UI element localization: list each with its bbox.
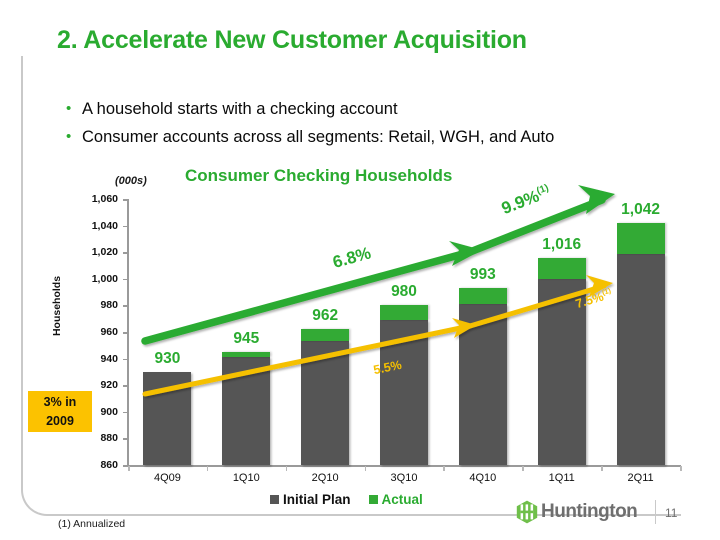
brand-logo: Huntington <box>516 500 637 524</box>
bullet-item-text: A household starts with a checking accou… <box>82 100 398 118</box>
page-number-separator <box>655 500 656 524</box>
y-axis-tick-label: 960 <box>72 326 118 338</box>
bar-segment-actual <box>301 329 349 341</box>
footnote-text: (1) Annualized <box>58 518 125 530</box>
y-axis-tick-mark <box>123 385 128 387</box>
bar-segment-actual <box>538 258 586 279</box>
y-axis-title: Households <box>51 246 63 366</box>
x-axis-tick-label: 3Q10 <box>364 472 444 484</box>
bar-value-label: 945 <box>201 330 291 348</box>
y-axis-tick-mark <box>123 279 128 281</box>
page-number: 11 <box>665 506 677 520</box>
annotation-actual-growth-early: 6.8% <box>331 243 374 273</box>
bar-segment-actual <box>222 352 270 357</box>
legend-label-initial-plan: Initial Plan <box>283 492 351 507</box>
bar-value-label: 1,042 <box>596 201 686 219</box>
y-axis-tick-label: 1,020 <box>72 246 118 258</box>
x-axis-tick-mark <box>443 466 445 471</box>
legend-label-actual: Actual <box>382 492 423 507</box>
y-axis-tick-mark <box>123 226 128 228</box>
bar-segment-actual <box>459 288 507 304</box>
x-axis-tick-label: 4Q10 <box>443 472 523 484</box>
y-axis-tick-label: 920 <box>72 379 118 391</box>
x-axis-tick-label: 1Q11 <box>522 472 602 484</box>
y-axis-tick-mark <box>123 412 128 414</box>
x-axis-tick-label: 1Q10 <box>206 472 286 484</box>
legend-swatch-initial-plan <box>270 495 279 504</box>
chart-units-note: (000s) <box>115 175 147 187</box>
x-axis-tick-mark <box>680 466 682 471</box>
x-axis-tick-label: 4Q09 <box>127 472 207 484</box>
y-axis-tick-mark <box>123 332 128 334</box>
bullet-item-text: Consumer accounts across all segments: R… <box>82 128 554 146</box>
bar-segment-actual <box>380 305 428 320</box>
brand-name: Huntington <box>541 501 637 523</box>
x-axis-tick-label: 2Q11 <box>601 472 681 484</box>
x-axis-tick-mark <box>601 466 603 471</box>
bar-segment-initial-plan <box>222 357 270 465</box>
bullet-item: •Consumer accounts across all segments: … <box>66 128 554 147</box>
huntington-hexagon-icon <box>516 500 538 524</box>
bar-value-label: 993 <box>438 266 528 284</box>
bar-value-label: 930 <box>122 350 212 368</box>
y-axis-tick-mark <box>123 438 128 440</box>
slide: 2. Accelerate New Customer Acquisition •… <box>0 0 720 540</box>
y-axis-tick-mark <box>123 199 128 201</box>
callout-badge: 3% in 2009 <box>28 391 92 432</box>
y-axis-tick-label: 860 <box>72 459 118 471</box>
y-axis-tick-label: 980 <box>72 299 118 311</box>
bullet-marker-icon: • <box>66 128 82 145</box>
y-axis-tick-label: 1,000 <box>72 273 118 285</box>
bar-segment-initial-plan <box>617 254 665 465</box>
bar-segment-actual <box>617 223 665 254</box>
y-axis-tick-mark <box>123 305 128 307</box>
x-axis-tick-label: 2Q10 <box>285 472 365 484</box>
x-axis-tick-mark <box>207 466 209 471</box>
x-axis-tick-mark <box>365 466 367 471</box>
legend-swatch-actual <box>369 495 378 504</box>
bar-segment-initial-plan <box>143 372 191 465</box>
page-title: 2. Accelerate New Customer Acquisition <box>57 26 527 55</box>
chart-title: Consumer Checking Households <box>185 166 452 186</box>
callout-line-2: 2009 <box>28 412 92 431</box>
bar-segment-initial-plan <box>380 320 428 465</box>
bar-segment-initial-plan <box>301 341 349 465</box>
y-axis-tick-label: 880 <box>72 432 118 444</box>
y-axis-tick-mark <box>123 252 128 254</box>
bullet-marker-icon: • <box>66 100 82 117</box>
x-axis-line <box>127 465 681 467</box>
bar-value-label: 962 <box>280 307 370 325</box>
bullet-item: •A household starts with a checking acco… <box>66 100 398 119</box>
x-axis-tick-mark <box>522 466 524 471</box>
y-axis-tick-label: 1,040 <box>72 220 118 232</box>
x-axis-tick-mark <box>286 466 288 471</box>
bar-value-label: 1,016 <box>517 236 607 254</box>
bar-segment-initial-plan <box>459 304 507 465</box>
x-axis-tick-mark <box>128 466 130 471</box>
y-axis-tick-label: 1,060 <box>72 193 118 205</box>
y-axis-tick-label: 940 <box>72 353 118 365</box>
callout-line-1: 3% in <box>28 393 92 412</box>
chart-legend: Initial PlanActual <box>270 492 423 507</box>
bar-value-label: 980 <box>359 283 449 301</box>
annotation-actual-growth-late: 9.9%(1) <box>499 182 554 219</box>
